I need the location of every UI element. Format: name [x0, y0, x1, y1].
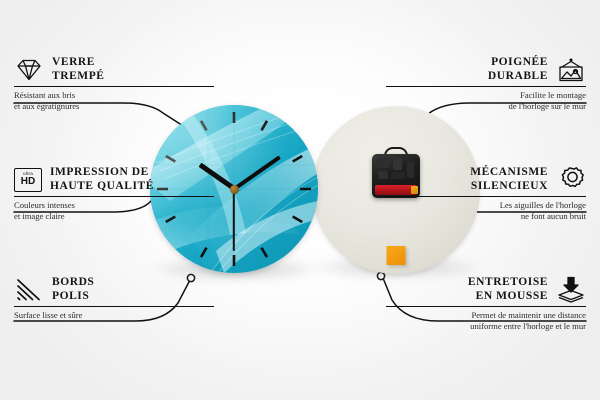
feature-title: IMPRESSION DE HAUTE QUALITÉ — [50, 166, 154, 193]
hands-center-cap — [230, 185, 239, 194]
feature-verre-trempe: VERRE TREMPÉ Résistant aux bris et aux é… — [14, 56, 214, 111]
feature-desc-line: et image claire — [14, 211, 214, 221]
feature-bords-polis: BORDS POLIS Surface lisse et sûre — [14, 276, 214, 321]
diamond-icon — [14, 57, 44, 83]
feature-desc-line: uniforme entre l'horloge et le mur — [386, 321, 586, 331]
divider — [386, 86, 586, 87]
divider — [386, 196, 586, 197]
feature-header: POIGNÉE DURABLE — [386, 56, 586, 83]
divider — [386, 306, 586, 307]
feature-desc-line: et aux égratignures — [14, 101, 214, 111]
divider — [14, 196, 214, 197]
feature-desc-line: Facilite le montage — [386, 90, 586, 100]
feature-header: MÉCANISME SILENCIEUX — [386, 166, 586, 193]
product-infographic: VERRE TREMPÉ Résistant aux bris et aux é… — [0, 0, 600, 400]
feature-header: VERRE TREMPÉ — [14, 56, 214, 83]
feature-header: ultra HD IMPRESSION DE HAUTE QUALITÉ — [14, 166, 214, 193]
divider — [14, 306, 214, 307]
feature-title: POIGNÉE DURABLE — [488, 56, 548, 83]
feature-desc-line: Couleurs intenses — [14, 200, 214, 210]
divider — [14, 86, 214, 87]
second-hand — [233, 189, 235, 251]
feature-mecanisme-silencieux: MÉCANISME SILENCIEUX Les aiguilles de l'… — [386, 166, 586, 221]
feature-header: BORDS POLIS — [14, 276, 214, 303]
polished-edge-icon — [14, 277, 44, 303]
feature-desc-line: ne font aucun bruit — [386, 211, 586, 221]
feature-header: ENTRETOISE EN MOUSSE — [386, 276, 586, 303]
foam-spacer-arrow-icon — [556, 276, 586, 303]
feature-title: VERRE TREMPÉ — [52, 56, 105, 83]
feature-desc-line: Résistant aux bris — [14, 90, 214, 100]
feature-title: ENTRETOISE EN MOUSSE — [468, 276, 548, 303]
feature-desc-line: Surface lisse et sûre — [14, 310, 214, 320]
gear-icon — [556, 166, 586, 193]
badge-big-text: HD — [21, 177, 35, 187]
ultra-hd-badge-icon: ultra HD — [14, 168, 42, 192]
feature-title: MÉCANISME SILENCIEUX — [470, 166, 548, 193]
picture-frame-hanging-icon — [556, 57, 586, 83]
feature-title: BORDS POLIS — [52, 276, 94, 303]
feature-entretoise-en-mousse: ENTRETOISE EN MOUSSE Permet de maintenir… — [386, 276, 586, 331]
feature-desc-line: de l'horloge sur le mur — [386, 101, 586, 111]
feature-poignee-durable: POIGNÉE DURABLE Facilite le montage de l… — [386, 56, 586, 111]
feature-impression-haute-qualite: ultra HD IMPRESSION DE HAUTE QUALITÉ Cou… — [14, 166, 214, 221]
feature-desc-line: Les aiguilles de l'horloge — [386, 200, 586, 210]
foam-spacer — [387, 246, 406, 265]
feature-desc-line: Permet de maintenir une distance — [386, 310, 586, 320]
